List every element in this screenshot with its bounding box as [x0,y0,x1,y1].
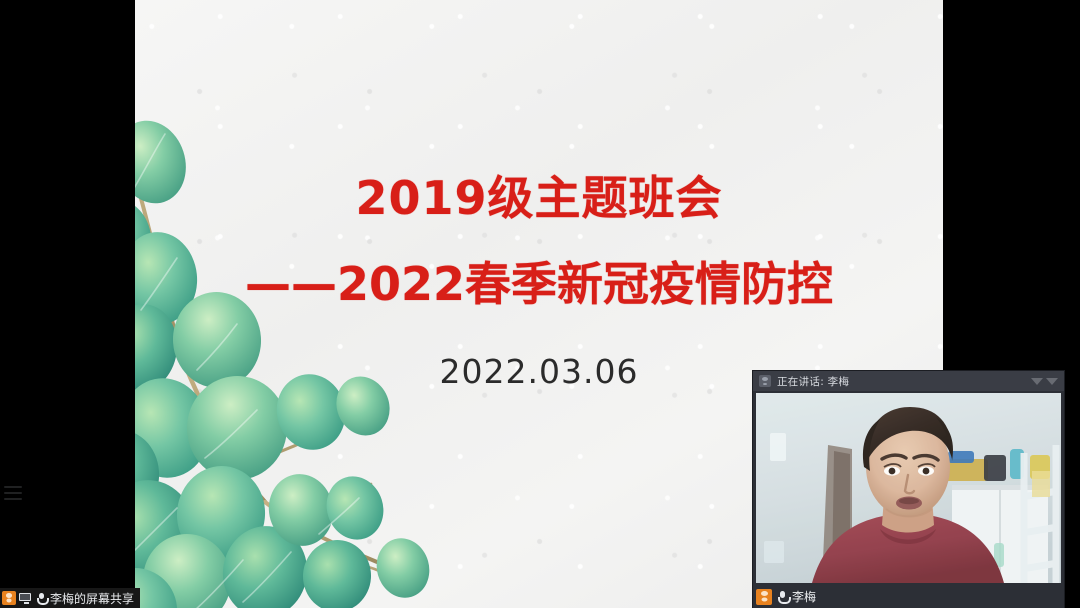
menu-handle-line [4,498,22,500]
participant-avatar-icon [756,589,772,605]
slide-title: 2019级主题班会 [135,162,943,228]
video-panel-controls[interactable] [1031,378,1058,385]
participant-name-label: 李梅 [792,588,816,605]
speaker-video-panel[interactable]: 正在讲话: 李梅 [753,371,1064,608]
menu-handle-line [4,492,22,494]
screen-share-icon[interactable] [19,592,33,604]
chevron-down-icon[interactable] [1031,378,1043,385]
zoom-meeting-stage: 2019级主题班会 ——2022春季新冠疫情防控 2022.03.06 正在讲话… [0,0,1080,608]
webcam-image [756,393,1061,583]
menu-handle-line [4,486,22,488]
speaking-status-label: 正在讲话: 李梅 [777,374,849,389]
microphone-icon[interactable] [776,590,788,604]
video-panel-header[interactable]: 正在讲话: 李梅 [753,371,1064,391]
participant-avatar-icon [2,591,16,605]
video-panel-footer: 李梅 [753,585,1064,608]
menu-handle-icon[interactable] [4,482,22,504]
slide-subtitle: ——2022春季新冠疫情防控 [135,248,943,314]
chevron-down-icon[interactable] [1046,378,1058,385]
screen-share-label: 李梅的屏幕共享 [50,590,140,607]
speaker-avatar-icon [759,375,771,387]
webcam-video-feed[interactable] [756,393,1061,583]
screen-share-status-bar[interactable]: 李梅的屏幕共享 [0,588,140,608]
microphone-icon[interactable] [36,592,47,605]
